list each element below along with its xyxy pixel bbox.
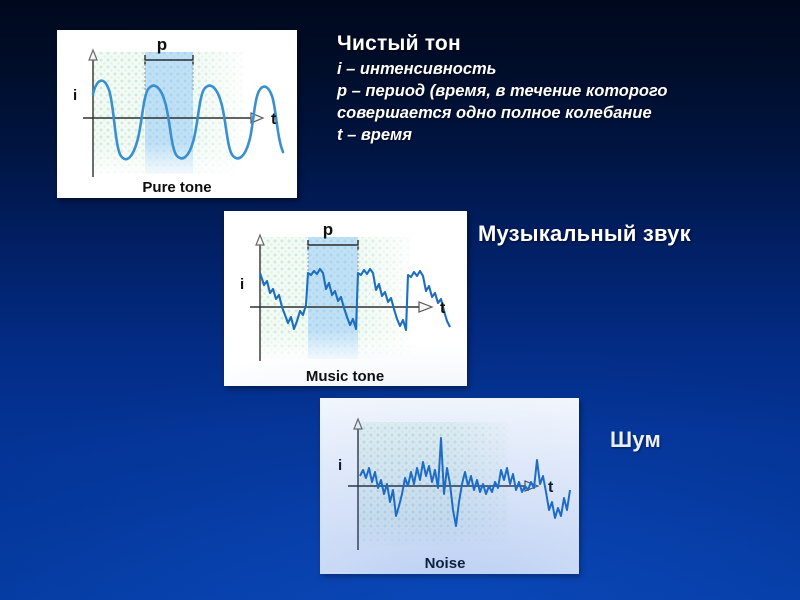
x-axis-label: t <box>440 300 446 317</box>
figure-caption: Music tone <box>306 368 384 385</box>
figure-noise-inner: i t Noise <box>320 398 579 574</box>
noise-heading: Шум <box>610 428 661 452</box>
y-axis-label: i <box>240 276 244 293</box>
period-label: p <box>157 35 167 54</box>
music-tone-text-block: Музыкальный звук <box>478 222 691 246</box>
slide-canvas: i t p Pure tone <box>0 0 800 600</box>
music-tone-heading: Музыкальный звук <box>478 222 691 246</box>
music-tone-chart: i t p Music tone <box>224 211 467 386</box>
figure-caption: Noise <box>425 555 466 572</box>
pure-tone-heading: Чистый тон <box>337 32 787 55</box>
pure-tone-chart: i t p Pure tone <box>57 30 297 198</box>
x-axis-label: t <box>271 111 277 128</box>
definition-line-period-1: p – период (время, в течение которого <box>337 81 787 102</box>
noise-text-block: Шум <box>610 428 661 452</box>
figure-caption: Pure tone <box>142 179 211 196</box>
x-axis-label: t <box>548 479 554 496</box>
figure-pure-tone: i t p Pure tone <box>57 30 297 198</box>
y-axis-label: i <box>338 457 342 474</box>
figure-pure-tone-inner: i t p Pure tone <box>57 30 297 198</box>
noise-chart: i t Noise <box>320 398 579 574</box>
figure-music-tone-inner: i t p Music tone <box>224 211 467 386</box>
definition-line-period-2: совершается одно полное колебание <box>337 103 787 124</box>
figure-music-tone: i t p Music tone <box>224 211 467 386</box>
period-label: p <box>323 220 333 239</box>
y-axis-label: i <box>73 87 77 104</box>
definition-line-time: t – время <box>337 125 787 146</box>
pure-tone-definitions: i – интенсивность p – период (время, в т… <box>337 59 787 146</box>
figure-noise: i t Noise <box>320 398 579 574</box>
definition-line-intensity: i – интенсивность <box>337 59 787 80</box>
pure-tone-text-block: Чистый тон i – интенсивность p – период … <box>337 32 787 148</box>
